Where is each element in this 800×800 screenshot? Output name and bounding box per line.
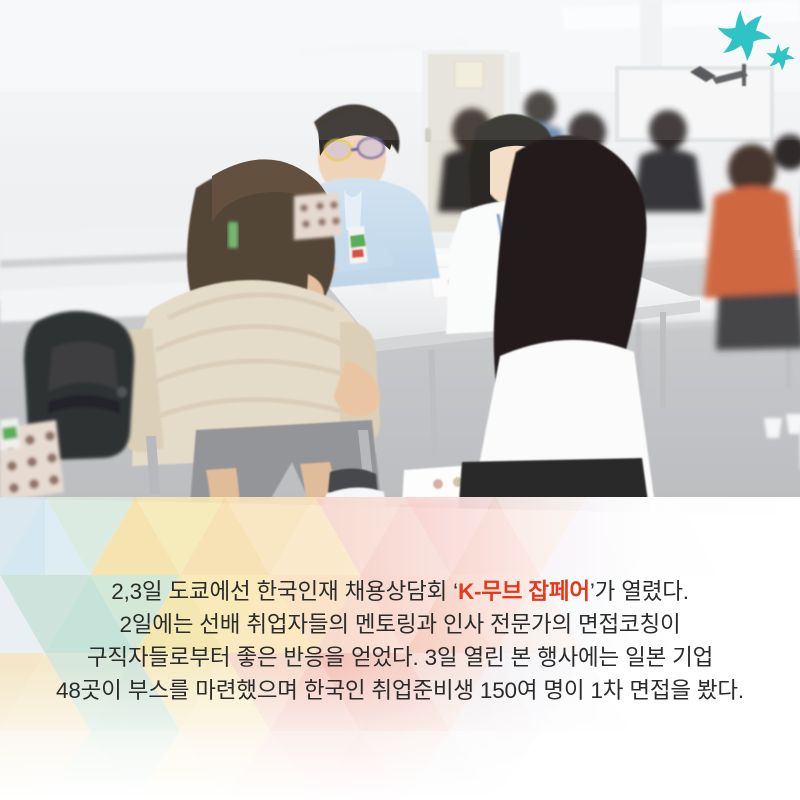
caption-block: 2,3일 도쿄에선 한국인재 채용상담회 ‘K-무브 잡페어’가 열렸다. 2일… <box>0 575 800 707</box>
swallow-bird-logo <box>706 4 796 72</box>
caption-line-1: 2,3일 도쿄에선 한국인재 채용상담회 ‘K-무브 잡페어’가 열렸다. <box>0 575 800 608</box>
card-news-container: 2,3일 도쿄에선 한국인재 채용상담회 ‘K-무브 잡페어’가 열렸다. 2일… <box>0 0 800 800</box>
caption-line-4: 48곳이 부스를 마련했으며 한국인 취업준비생 150여 명이 1차 면접을 … <box>0 674 800 707</box>
caption-highlight-kmove-jobfair: K-무브 잡페어 <box>458 579 590 604</box>
caption-line-1-part-c: ’가 열렸다. <box>590 579 689 604</box>
swallow-bird-large <box>718 11 772 62</box>
job-fair-consultation-photo <box>0 0 800 516</box>
caption-line-2: 2일에는 선배 취업자들의 멘토링과 인사 전문가의 면접코칭이 <box>0 608 800 641</box>
swallow-bird-logo-svg <box>706 4 796 72</box>
photo-illustration <box>0 0 800 516</box>
caption-line-1-part-a: 2,3일 도쿄에선 한국인재 채용상담회 ‘ <box>111 579 458 604</box>
caption-line-3: 구직자들로부터 좋은 반응을 얻었다. 3일 열린 본 행사에는 일본 기업 <box>0 641 800 674</box>
swallow-bird-small <box>767 44 795 70</box>
